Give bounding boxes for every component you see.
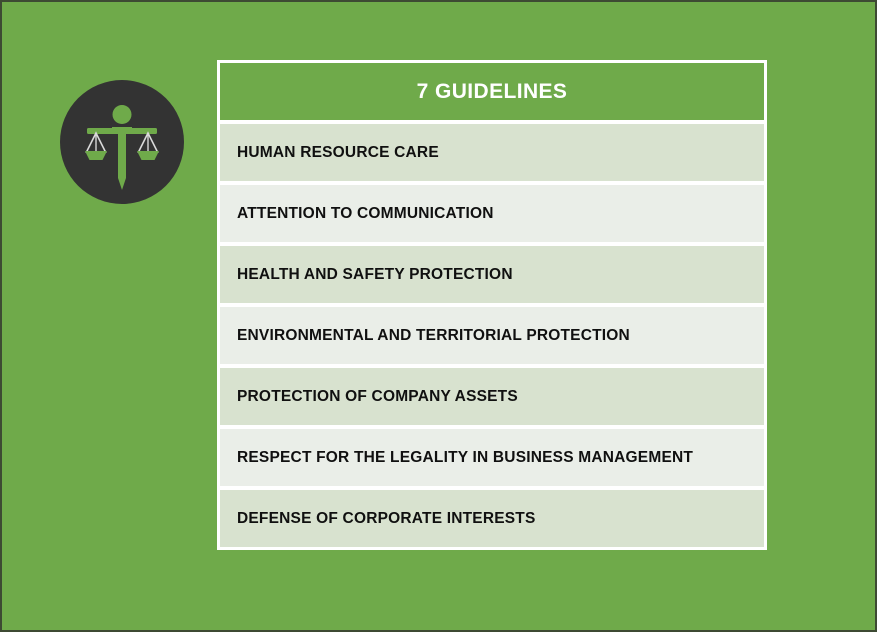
guidelines-row-list: HUMAN RESOURCE CARE ATTENTION TO COMMUNI… — [220, 124, 764, 547]
guideline-label: RESPECT FOR THE LEGALITY IN BUSINESS MAN… — [237, 449, 693, 467]
guideline-label: DEFENSE OF CORPORATE INTERESTS — [237, 510, 536, 528]
guideline-label: HUMAN RESOURCE CARE — [237, 144, 439, 162]
guideline-label: PROTECTION OF COMPANY ASSETS — [237, 388, 518, 406]
guideline-label: ENVIRONMENTAL AND TERRITORIAL PROTECTION — [237, 327, 630, 345]
list-item[interactable]: DEFENSE OF CORPORATE INTERESTS — [220, 490, 764, 547]
list-item[interactable]: RESPECT FOR THE LEGALITY IN BUSINESS MAN… — [220, 429, 764, 486]
guideline-label: ATTENTION TO COMMUNICATION — [237, 205, 494, 223]
table-header-title: 7 GUIDELINES — [220, 63, 764, 120]
scales-of-justice-person-icon — [60, 80, 184, 204]
guideline-label: HEALTH AND SAFETY PROTECTION — [237, 266, 513, 284]
guidelines-table: 7 GUIDELINES HUMAN RESOURCE CARE ATTENTI… — [217, 60, 767, 550]
list-item[interactable]: PROTECTION OF COMPANY ASSETS — [220, 368, 764, 425]
icon-figure-graphic — [60, 80, 184, 204]
slide-canvas: 7 GUIDELINES HUMAN RESOURCE CARE ATTENTI… — [0, 0, 877, 632]
list-item[interactable]: HEALTH AND SAFETY PROTECTION — [220, 246, 764, 303]
list-item[interactable]: ENVIRONMENTAL AND TERRITORIAL PROTECTION — [220, 307, 764, 364]
list-item[interactable]: HUMAN RESOURCE CARE — [220, 124, 764, 181]
list-item[interactable]: ATTENTION TO COMMUNICATION — [220, 185, 764, 242]
